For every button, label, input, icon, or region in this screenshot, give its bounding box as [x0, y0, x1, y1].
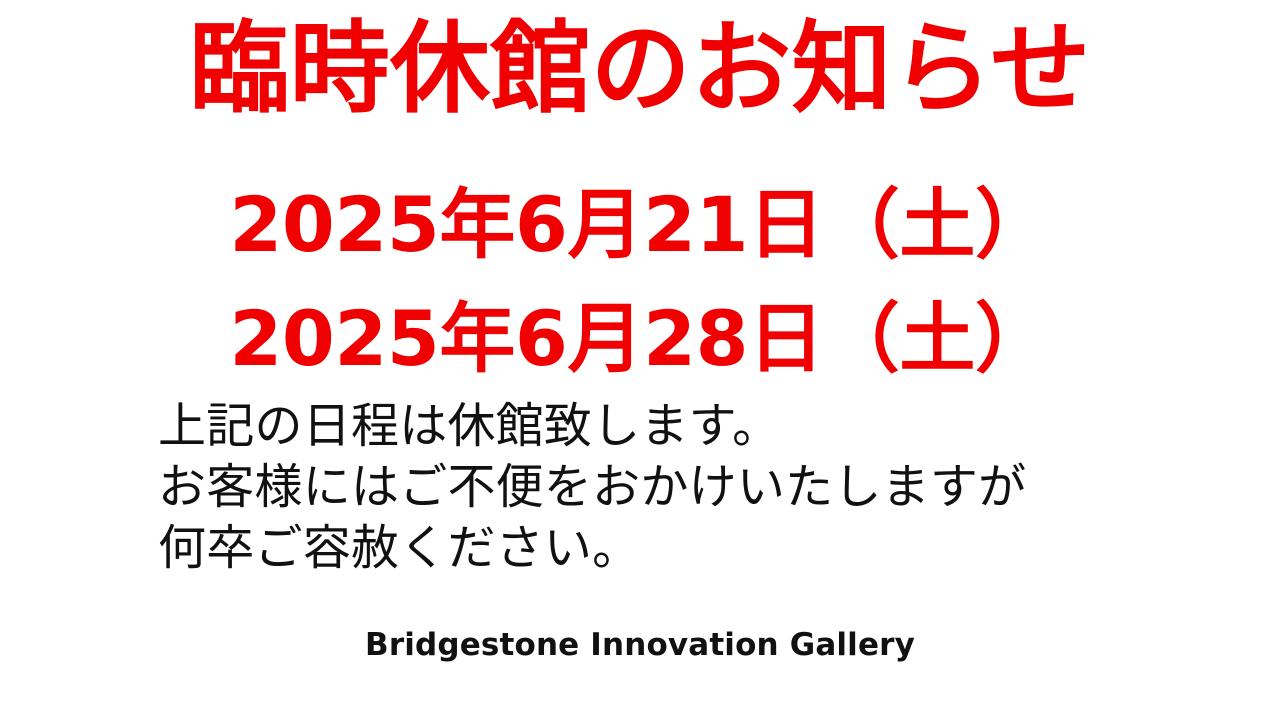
notice-body-line-1: 上記の日程は休館致します。 [158, 396, 1158, 457]
closure-notice-poster: 臨時休館のお知らせ 2025年6月21日（土） 2025年6月28日（土） 上記… [0, 0, 1280, 720]
notice-body-text: 上記の日程は休館致します。 お客様にはご不便をおかけいたしますが 何卒ご容赦くだ… [158, 396, 1158, 579]
closure-date-1: 2025年6月21日（土） [0, 168, 1280, 282]
organization-name: Bridgestone Innovation Gallery [0, 627, 1280, 664]
closure-dates-list: 2025年6月21日（土） 2025年6月28日（土） [0, 168, 1280, 396]
notice-body-line-2: お客様にはご不便をおかけいたしますが [158, 457, 1158, 518]
closure-date-2: 2025年6月28日（土） [0, 282, 1280, 396]
notice-body-line-3: 何卒ご容赦ください。 [158, 518, 1158, 579]
page-title: 臨時休館のお知らせ [0, 12, 1280, 126]
